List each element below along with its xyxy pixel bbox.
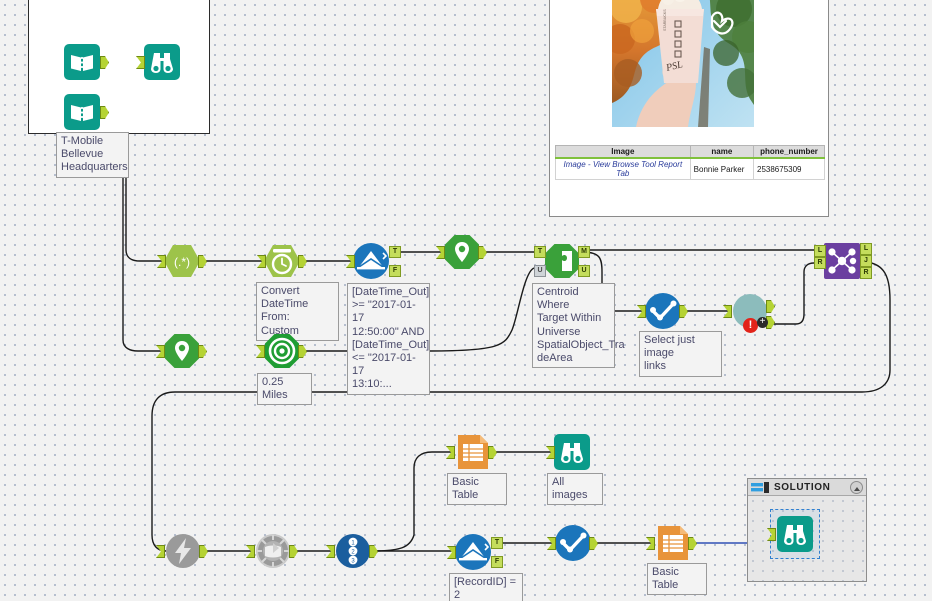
workflow-canvas[interactable]: STARBUCKS PSL Image name phone_number: [0, 0, 932, 601]
tool-blob-convert-1[interactable]: [255, 533, 291, 569]
output-port-false[interactable]: F: [389, 265, 401, 277]
regex-icon: (.*): [164, 243, 200, 279]
output-plug[interactable]: [679, 305, 688, 318]
output-plug[interactable]: [289, 545, 298, 558]
input-plug[interactable]: [637, 305, 646, 318]
browse-results-panel[interactable]: STARBUCKS PSL Image name phone_number: [549, 0, 829, 217]
col-phone-number[interactable]: phone_number: [754, 146, 825, 159]
output-port-unmatch[interactable]: U: [578, 265, 590, 277]
tool-select-1[interactable]: [645, 293, 681, 329]
output-port-false[interactable]: F: [491, 556, 503, 568]
output-port-true[interactable]: T: [389, 246, 401, 258]
regex-caption: (.*): [174, 255, 190, 269]
annotation-spatial-match: Centroid Where Target Within Universe Sp…: [532, 283, 615, 368]
table-report-icon: [455, 434, 491, 470]
table-report-icon: [655, 525, 691, 561]
output-plug[interactable]: [589, 537, 598, 550]
output-plug[interactable]: [198, 345, 207, 358]
cell-name: Bonnie Parker: [690, 158, 753, 180]
top-left-white-panel: [28, 0, 210, 134]
annotation-record-filter: [RecordID] = 2: [449, 573, 523, 601]
output-plug-1[interactable]: [766, 300, 775, 313]
annotation-basic-table-top: Basic Table: [447, 473, 507, 505]
output-port-true[interactable]: T: [491, 537, 503, 549]
book-icon: [64, 94, 100, 130]
tool-table-1[interactable]: [455, 434, 491, 470]
annotation-tmobile: T-Mobile Bellevue Headquarters: [56, 132, 129, 178]
annotation-select-image-links: Select just image links: [639, 331, 722, 377]
tool-join-1[interactable]: L R L J R: [824, 243, 860, 279]
annotation-all-images: All images: [547, 473, 603, 505]
input-plug[interactable]: [257, 255, 266, 268]
col-image[interactable]: Image: [556, 146, 691, 159]
input-plug[interactable]: [547, 537, 556, 550]
annotation-basic-table-bottom: Basic Table: [647, 563, 707, 595]
tool-filter-1[interactable]: T F: [353, 243, 389, 279]
annotation-filter-expression: [DateTime_Out] >= "2017-01-17 12:50:00" …: [347, 283, 430, 395]
tool-browse-2[interactable]: [554, 434, 590, 470]
input-plug[interactable]: [546, 446, 555, 459]
output-plug[interactable]: [198, 255, 207, 268]
tool-create-points-1[interactable]: [444, 234, 480, 270]
input-plug[interactable]: [156, 545, 165, 558]
output-plug[interactable]: [199, 545, 208, 558]
map-pin-icon: [164, 333, 200, 369]
solution-container-body[interactable]: [748, 496, 866, 581]
output-plug[interactable]: [298, 255, 307, 268]
input-plug[interactable]: [646, 537, 655, 550]
input-plug[interactable]: [246, 545, 255, 558]
gear-scroll-icon: [255, 533, 291, 569]
tool-input-data-2[interactable]: [64, 94, 100, 130]
input-port-left[interactable]: L: [814, 245, 826, 257]
tool-table-2[interactable]: [655, 525, 691, 561]
target-rings-icon: [264, 333, 300, 369]
input-port-right[interactable]: R: [814, 257, 826, 269]
output-plug[interactable]: [478, 246, 487, 259]
output-port-right[interactable]: R: [860, 267, 872, 279]
numbers-123-icon: 1 2 3: [335, 533, 371, 569]
binoculars-icon: [554, 434, 590, 470]
tool-input-data-1[interactable]: [64, 44, 100, 80]
col-name[interactable]: name: [690, 146, 753, 159]
table-header-row: Image name phone_number: [556, 146, 825, 159]
input-port-target[interactable]: T: [534, 246, 546, 258]
browse-results-table-wrap: Image name phone_number Image - View Bro…: [555, 145, 825, 180]
tool-create-points-2[interactable]: [164, 333, 200, 369]
output-port-left[interactable]: L: [860, 243, 872, 255]
output-port-inner[interactable]: J: [860, 255, 872, 267]
tool-browse-3[interactable]: [777, 516, 813, 552]
input-plug[interactable]: [156, 345, 165, 358]
output-plug[interactable]: [298, 345, 307, 358]
psl-cup-photo: STARBUCKS PSL: [612, 0, 754, 127]
browse-image-preview: STARBUCKS PSL: [612, 0, 754, 127]
input-plug[interactable]: [446, 446, 455, 459]
lightning-icon: [165, 533, 201, 569]
tool-record-id-1[interactable]: 1 2 3: [335, 533, 371, 569]
input-plug[interactable]: [346, 255, 355, 268]
annotation-trade-area-radius: 0.25 Miles: [257, 373, 312, 405]
cell-image-link[interactable]: Image - View Browse Tool Report Tab: [556, 158, 691, 180]
input-plug[interactable]: [326, 545, 335, 558]
browse-results-table[interactable]: Image name phone_number Image - View Bro…: [555, 145, 825, 180]
tool-spatial-match-1[interactable]: T U M U: [544, 243, 580, 279]
input-plug[interactable]: [157, 255, 166, 268]
filter-funnel-icon: [455, 534, 491, 570]
tool-trade-area-1[interactable]: [264, 333, 300, 369]
tool-select-2[interactable]: [555, 525, 591, 561]
puzzle-piece-icon: [544, 243, 580, 279]
input-port-universe[interactable]: U: [534, 265, 546, 277]
tool-blob-input-1[interactable]: [165, 533, 201, 569]
input-plug[interactable]: [723, 305, 732, 318]
solution-container-title: SOLUTION: [774, 482, 830, 493]
annotation-convert-datetime: Convert DateTime From: Custom: [256, 282, 339, 341]
join-nodes-icon: [824, 243, 860, 279]
tool-datetime-1[interactable]: [264, 243, 300, 279]
tool-filter-2[interactable]: T F: [455, 534, 491, 570]
output-port-match[interactable]: M: [578, 246, 590, 258]
output-plug[interactable]: [369, 545, 378, 558]
map-pin-icon: [444, 234, 480, 270]
clock-icon: [264, 243, 300, 279]
cell-phone-number: 2538675309: [754, 158, 825, 180]
checkmark-icon: [645, 293, 681, 329]
tool-regex-1[interactable]: (.*): [164, 243, 200, 279]
collapse-button[interactable]: [850, 481, 863, 494]
input-plug[interactable]: [436, 246, 445, 259]
checkmark-icon: [555, 525, 591, 561]
tool-download-1[interactable]: ! +: [732, 293, 768, 329]
binoculars-icon: [777, 516, 813, 552]
container-icon: [751, 482, 769, 493]
svg-text:STARBUCKS: STARBUCKS: [663, 9, 667, 31]
input-plug[interactable]: [447, 546, 456, 559]
table-row[interactable]: Image - View Browse Tool Report Tab Bonn…: [556, 158, 825, 180]
output-plug[interactable]: [488, 446, 497, 459]
book-icon: [64, 44, 100, 80]
solution-container[interactable]: SOLUTION: [747, 478, 867, 582]
error-badge[interactable]: !: [743, 318, 758, 333]
binoculars-icon: [144, 44, 180, 80]
input-plug[interactable]: [256, 345, 265, 358]
solution-container-header[interactable]: SOLUTION: [748, 479, 866, 496]
add-badge[interactable]: +: [757, 317, 768, 328]
filter-funnel-icon: [353, 243, 389, 279]
tool-browse-1[interactable]: [144, 44, 180, 80]
output-plug[interactable]: [688, 537, 697, 550]
